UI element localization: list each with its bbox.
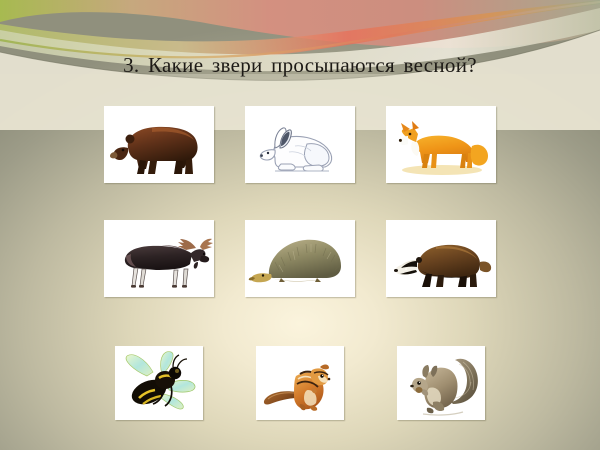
bear-illustration — [104, 106, 214, 183]
grid-row-3 — [0, 333, 600, 433]
grid-row-1 — [0, 100, 600, 188]
grid-item-fox[interactable] — [386, 106, 496, 183]
grid-row-2 — [0, 206, 600, 311]
grid-item-badger[interactable] — [386, 220, 496, 297]
squirrel-illustration — [397, 346, 485, 420]
slide-title: 3. Какие звери просыпаются весной? — [0, 52, 600, 78]
bee-illustration — [115, 346, 203, 420]
grid-item-elk[interactable] — [104, 220, 214, 297]
fox-illustration — [386, 106, 496, 183]
presentation-slide: 3. Какие звери просыпаются весной? — [0, 0, 600, 450]
grid-item-chipmunk[interactable] — [256, 346, 344, 420]
badger-illustration — [386, 220, 496, 297]
chipmunk-illustration — [256, 346, 344, 420]
grid-item-hedgehog[interactable] — [245, 220, 355, 297]
hedgehog-illustration — [245, 220, 355, 297]
hare-illustration — [245, 106, 355, 183]
grid-item-hare[interactable] — [245, 106, 355, 183]
grid-item-bear[interactable] — [104, 106, 214, 183]
animal-image-grid — [0, 100, 600, 433]
grid-item-bee[interactable] — [115, 346, 203, 420]
elk-illustration — [104, 220, 214, 297]
grid-item-squirrel[interactable] — [397, 346, 485, 420]
